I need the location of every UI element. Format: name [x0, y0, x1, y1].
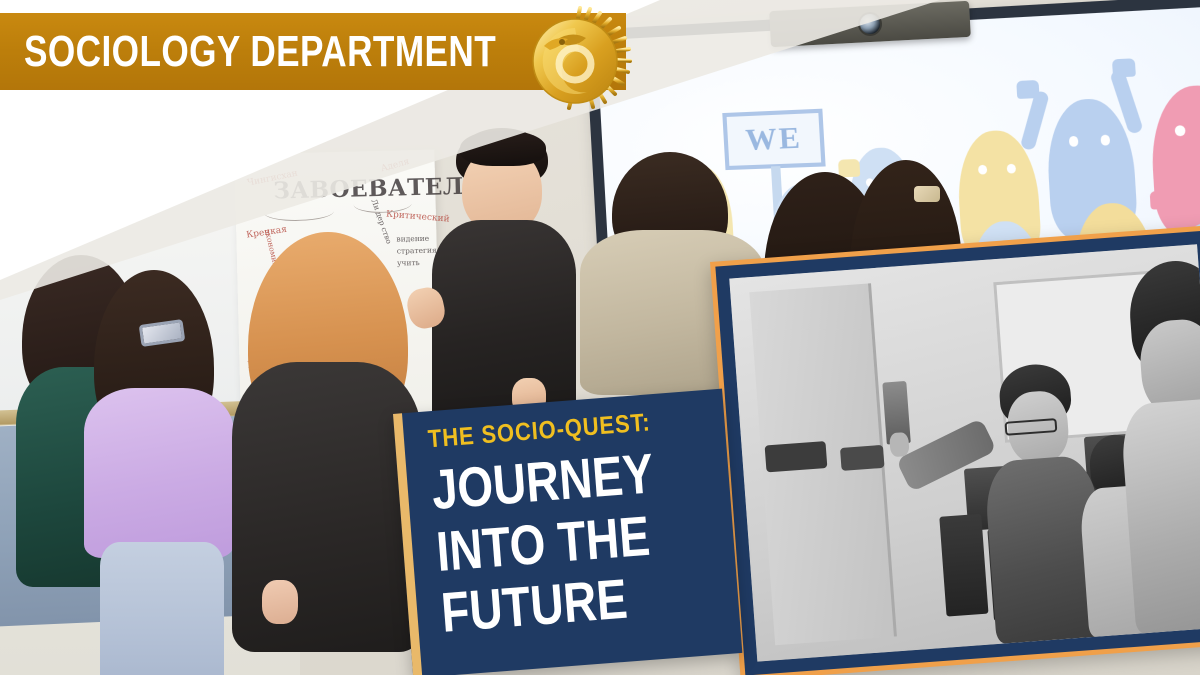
inset-photo-inner-frame [715, 230, 1200, 675]
cartoon-fist [1016, 80, 1039, 99]
hand-with-marker [889, 432, 909, 458]
door-handle [840, 444, 884, 470]
cartoon-figure [1148, 84, 1200, 239]
cartoon-fist [1150, 191, 1174, 210]
person-black-top [232, 232, 422, 652]
door-handle [765, 441, 828, 472]
hand [262, 580, 298, 624]
title-line-2: INTO THE [435, 508, 674, 577]
person-presenter [430, 128, 580, 428]
cartoon-fist [1112, 58, 1136, 77]
title-card: THE SOCIO-QUEST: JOURNEY INTO THE FUTURE [393, 389, 742, 675]
page-title: SOCIOLOGY DEPARTMENT [0, 27, 496, 77]
title-line-3: FUTURE [439, 569, 678, 638]
torso [84, 388, 234, 558]
jeans [100, 542, 224, 675]
torso [232, 362, 422, 652]
hair-clip [914, 186, 940, 202]
inset-photo-image [729, 244, 1200, 661]
golden-eagle-emblem-icon [520, 6, 640, 116]
torso [432, 220, 576, 430]
poster-canvas: ЗАВОЕВАТЕЛИ Чингисхан Аделя Крепкая Крит… [0, 0, 1200, 675]
person-lavender-top [78, 270, 238, 670]
inset-photo-frame [710, 225, 1200, 675]
cartoon-arm [1020, 90, 1050, 151]
